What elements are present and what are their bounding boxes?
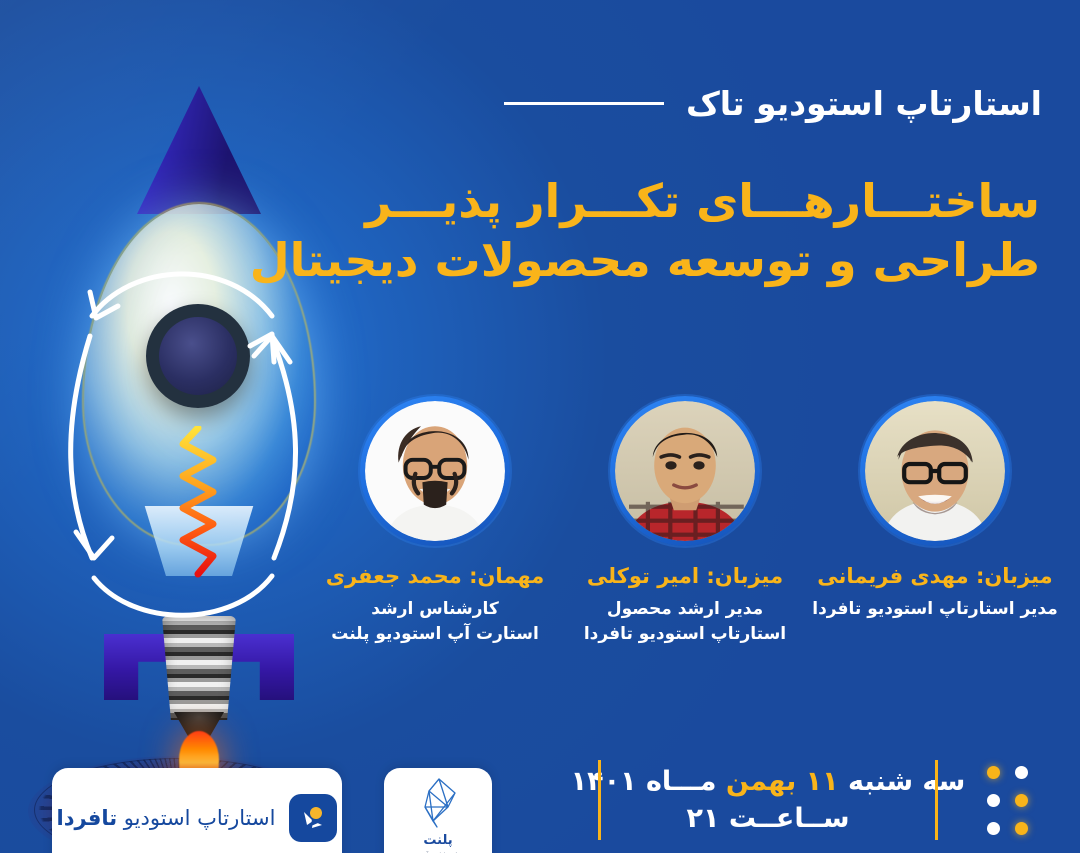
title-line-2: طراحی و توسعه محصولات دیجیتال bbox=[340, 231, 1040, 290]
avatar bbox=[610, 396, 760, 546]
dot-icon bbox=[987, 822, 1000, 835]
planet-crystal-icon bbox=[415, 777, 461, 829]
tafarda-bird-icon bbox=[289, 794, 337, 842]
tafarda-logo-text-plain: استارتاپ استودیو bbox=[124, 806, 276, 830]
speakers-list: میزبان: مهدی فریمانی مدیر استارتاپ استود… bbox=[310, 396, 1060, 647]
avatar-image-amir-tavakoli bbox=[615, 401, 755, 541]
event-date-suffix: مـــاه ۱۴۰۱ bbox=[571, 766, 717, 797]
planet-logo-card[interactable]: پلنت شبکه‌سازان نوآفرینی bbox=[384, 768, 492, 853]
speaker-name: میزبان: مهدی فریمانی bbox=[810, 562, 1060, 590]
dot-icon bbox=[987, 766, 1000, 779]
speaker-card: میزبان: امیر توکلی مدیر ارشد محصول استار… bbox=[560, 396, 810, 647]
tafarda-logo-text: استارتاپ استودیو تافردا bbox=[57, 806, 276, 830]
event-date-highlight: ۱۱ بهمن bbox=[726, 766, 839, 797]
speaker-role-line-1: مدیر ارشد محصول bbox=[560, 597, 810, 622]
event-date-prefix: سه شنبه bbox=[848, 766, 965, 797]
speaker-role-line-1: کارشناس ارشد bbox=[310, 597, 560, 622]
header-title: استارتاپ استودیو تاک bbox=[686, 84, 1042, 123]
header: استارتاپ استودیو تاک bbox=[504, 84, 1042, 123]
avatar bbox=[360, 396, 510, 546]
speaker-role-line-1: مدیر استارتاپ استودیو تافردا bbox=[810, 597, 1060, 622]
title-line-1: ساختـــارهـــای تکـــرار پذیـــر bbox=[340, 172, 1040, 231]
speaker-name: میزبان: امیر توکلی bbox=[560, 562, 810, 590]
dot-icon bbox=[1015, 766, 1028, 779]
dot-icon bbox=[1015, 794, 1028, 807]
poster-canvas: استارتاپ استودیو تاک ساختـــارهـــای تکـ… bbox=[0, 0, 1080, 853]
event-date: سه شنبه ۱۱ بهمن مـــاه ۱۴۰۱ bbox=[571, 766, 966, 797]
tafarda-logo-text-bold: تافردا bbox=[57, 806, 118, 830]
speaker-role-line-2: استارتاپ استودیو تافردا bbox=[560, 622, 810, 647]
avatar bbox=[860, 396, 1010, 546]
avatar-image-mohammad-jafari bbox=[365, 401, 505, 541]
speaker-name: مهمان: محمد جعفری bbox=[310, 562, 560, 590]
dot-icon bbox=[1015, 822, 1028, 835]
speaker-role-line-2: استارت آپ استودیو پلنت bbox=[310, 622, 560, 647]
tafarda-logo-card[interactable]: استارتاپ استودیو تافردا bbox=[52, 768, 342, 853]
page-title: ساختـــارهـــای تکـــرار پذیـــر طراحی و… bbox=[340, 172, 1040, 290]
speaker-card: میزبان: مهدی فریمانی مدیر استارتاپ استود… bbox=[810, 396, 1060, 647]
event-datetime: سه شنبه ۱۱ بهمن مـــاه ۱۴۰۱ ســاعــت ۲۱ bbox=[598, 752, 938, 848]
event-time: ســاعــت ۲۱ bbox=[687, 803, 850, 834]
decorative-dots bbox=[982, 762, 1032, 840]
planet-logo-name: پلنت bbox=[423, 833, 452, 848]
horizontal-rule-icon bbox=[504, 102, 664, 105]
rocket-lightbulb-illustration bbox=[22, 86, 342, 766]
dot-icon bbox=[987, 794, 1000, 807]
avatar-image-mehdi-farimani bbox=[865, 401, 1005, 541]
speaker-card: مهمان: محمد جعفری کارشناس ارشد استارت آپ… bbox=[310, 396, 560, 647]
